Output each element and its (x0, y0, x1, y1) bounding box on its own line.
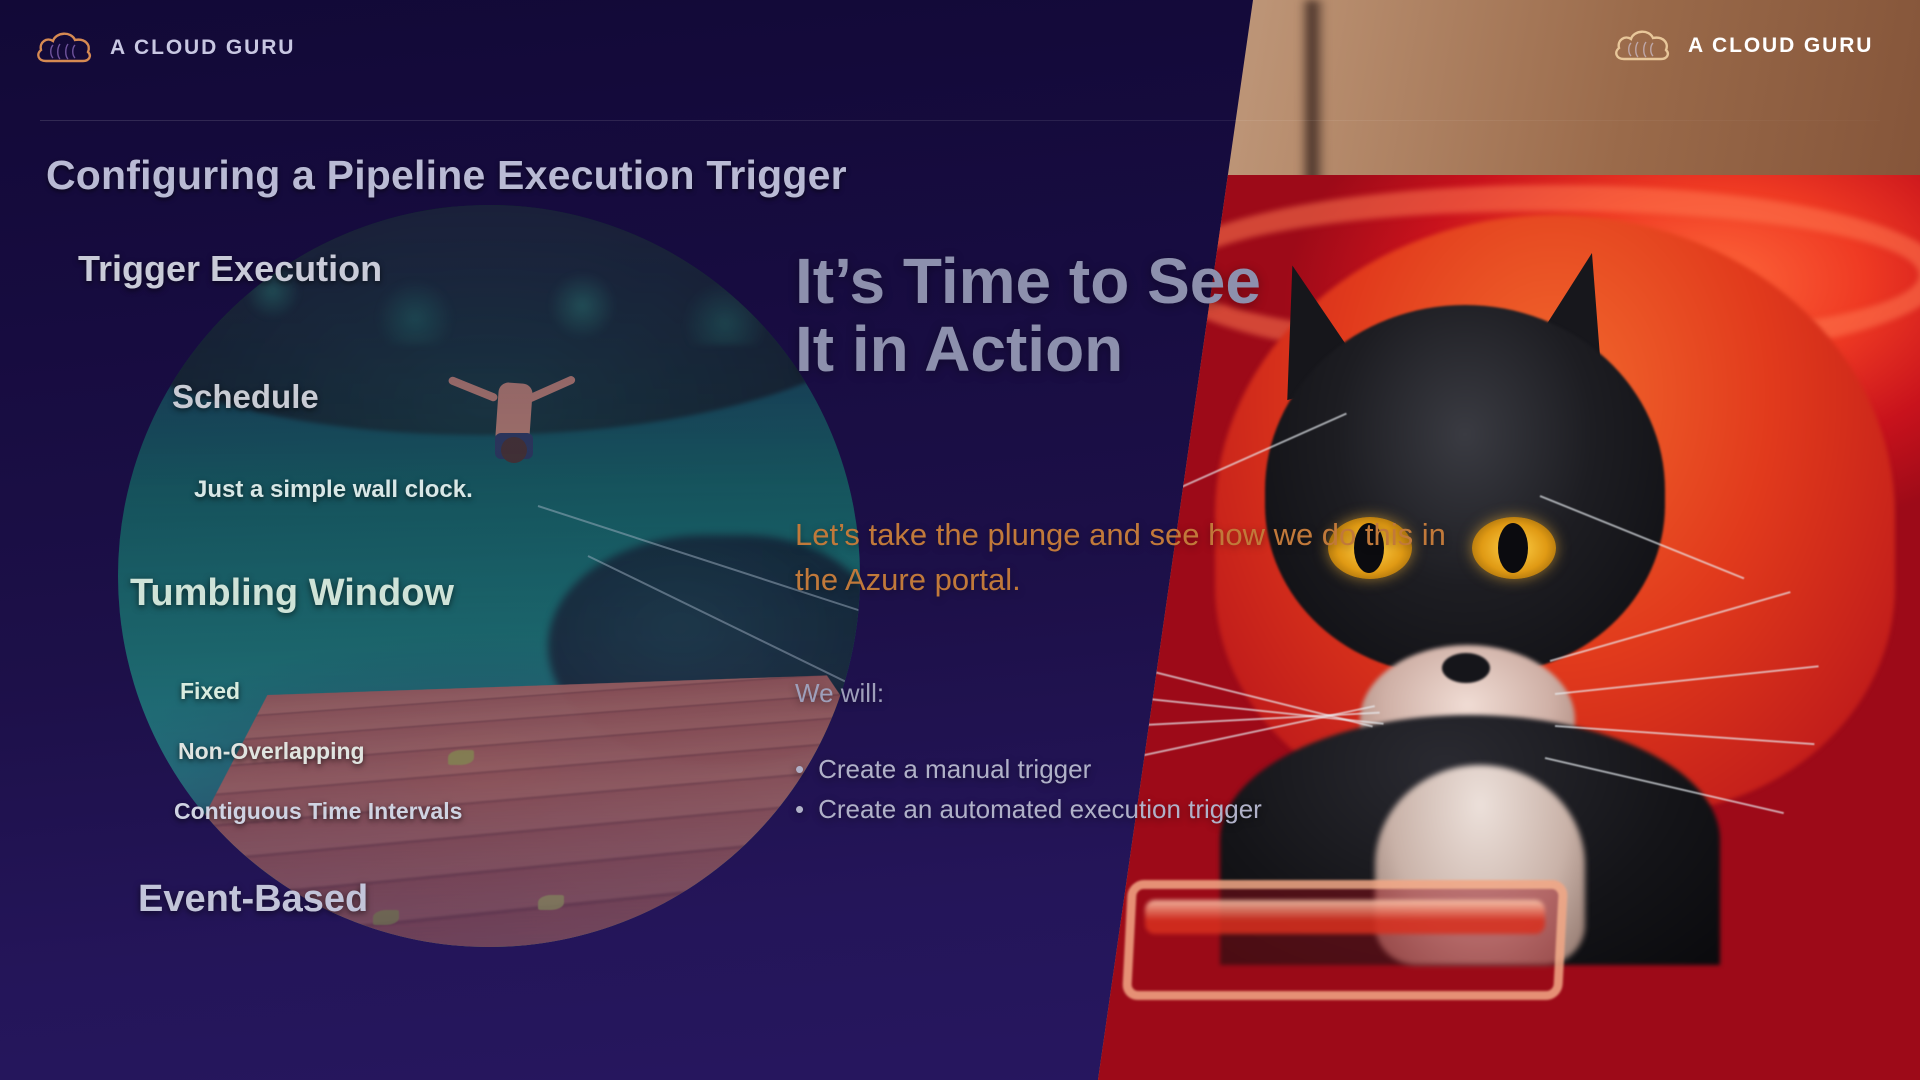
right-heading-line-1: It’s Time to See (795, 248, 1435, 316)
outline-item-tumbling-window: Tumbling Window (130, 572, 454, 615)
photo-bucket-handle-bar (1145, 900, 1545, 934)
outline-item-fixed: Fixed (180, 678, 240, 705)
logo-left: A CLOUD GURU (34, 28, 295, 68)
outline-item-event-based: Event-Based (138, 878, 368, 921)
header-divider (40, 120, 1880, 121)
logo-right-text: A CLOUD GURU (1688, 34, 1873, 58)
photo-bucket-handle-slot (1122, 880, 1568, 1000)
list-item-label: Create a manual trigger (818, 750, 1091, 790)
outline-item-wall-clock: Just a simple wall clock. (194, 476, 473, 504)
cat-pupil-right (1498, 523, 1528, 573)
outline-item-schedule: Schedule (172, 378, 319, 416)
list-item-label: Create an automated execution trigger (818, 790, 1262, 830)
presentation-slide: A CLOUD GURU A CLOUD GURU Configuring a … (0, 0, 1920, 1080)
cloud-outline-icon (1612, 26, 1674, 66)
logo-left-text: A CLOUD GURU (110, 36, 295, 60)
cat-eye-right (1472, 517, 1556, 579)
right-subtext: Let’s take the plunge and see how we do … (795, 513, 1475, 603)
outline-item-contiguous-time-intervals: Contiguous Time Intervals (174, 798, 462, 825)
cat-nose (1442, 653, 1490, 683)
bullet-icon: • (795, 790, 804, 830)
cloud-outline-icon (34, 28, 96, 68)
right-heading: It’s Time to See It in Action (795, 248, 1435, 384)
right-heading-line-2: It in Action (795, 316, 1435, 384)
bullet-icon: • (795, 750, 804, 790)
page-title: Configuring a Pipeline Execution Trigger (46, 152, 847, 199)
right-lead-in: We will: (795, 678, 884, 709)
outline-item-trigger-execution: Trigger Execution (78, 248, 382, 290)
list-item: • Create a manual trigger (795, 750, 1495, 790)
logo-right: A CLOUD GURU (1612, 26, 1873, 66)
list-item: • Create an automated execution trigger (795, 790, 1495, 830)
outline-item-non-overlapping: Non-Overlapping (178, 738, 365, 765)
right-bullet-list: • Create a manual trigger • Create an au… (795, 750, 1495, 830)
